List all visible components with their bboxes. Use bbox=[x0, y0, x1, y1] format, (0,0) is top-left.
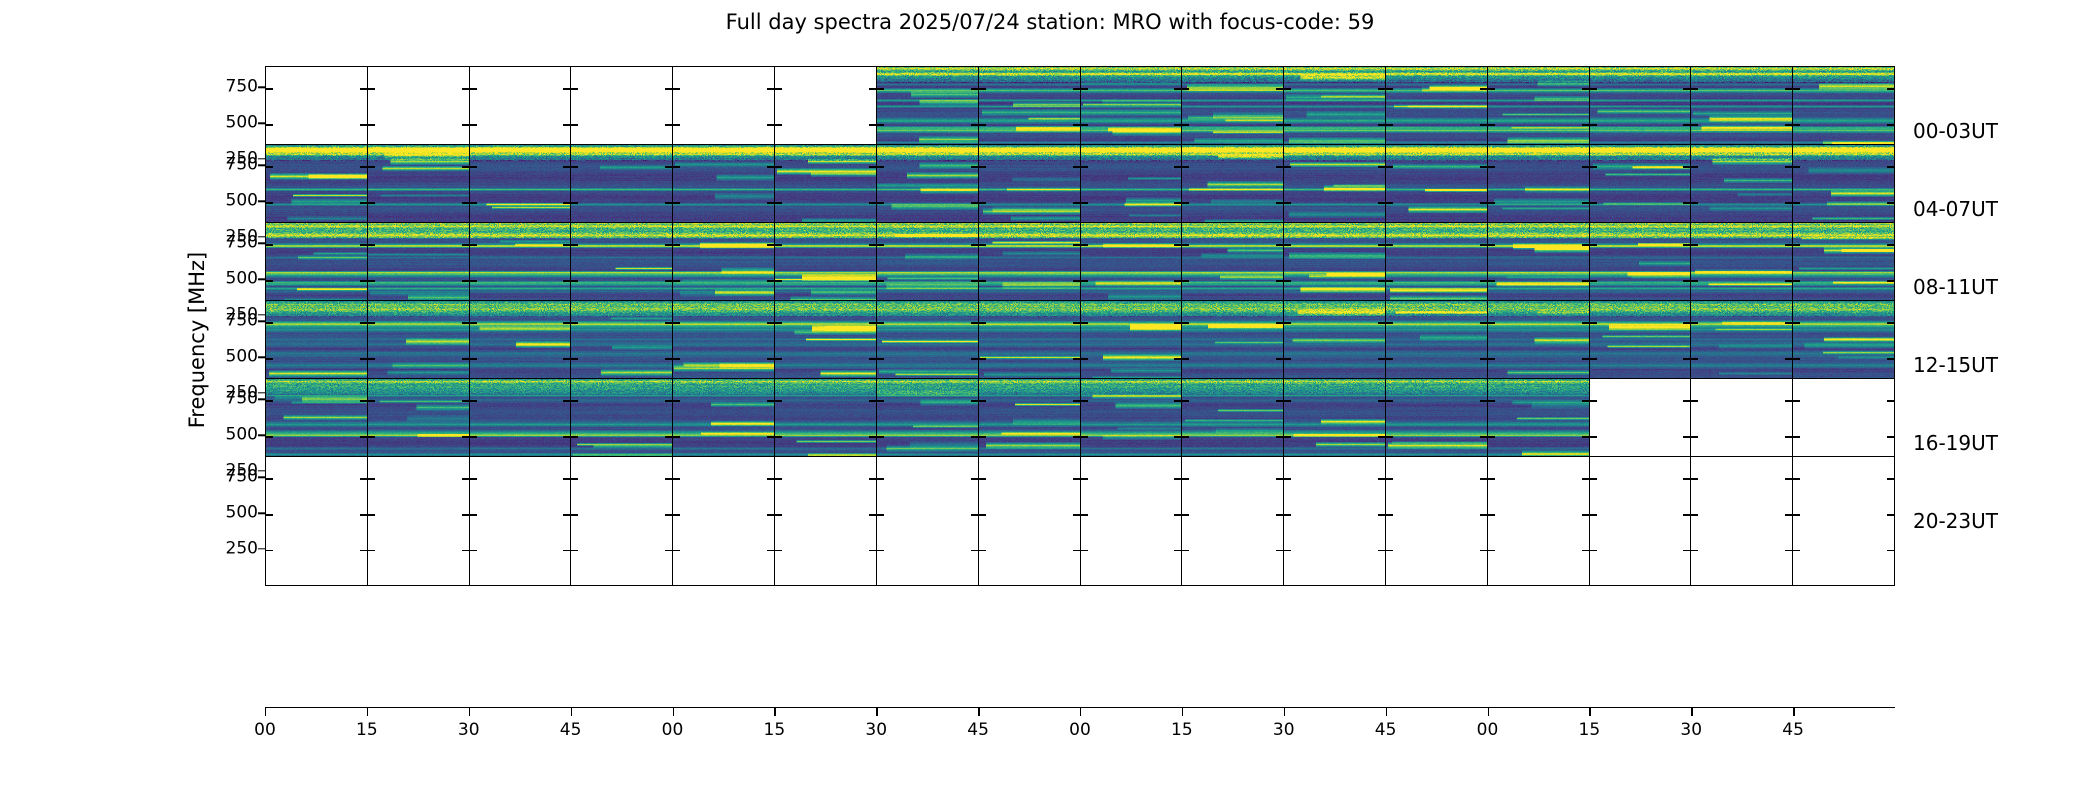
y-tick-mark bbox=[767, 166, 774, 167]
y-tick-mark bbox=[1378, 202, 1385, 203]
y-tick-mark bbox=[1691, 436, 1698, 437]
spectrogram-panel[interactable] bbox=[265, 456, 367, 586]
x-tick-label: 45 bbox=[560, 720, 582, 740]
y-tick-mark bbox=[1793, 550, 1800, 551]
y-tick-mark bbox=[1590, 514, 1597, 515]
spectrogram-panel[interactable] bbox=[978, 456, 1080, 586]
y-tick-mark bbox=[1582, 514, 1589, 515]
y-tick-mark bbox=[1276, 550, 1283, 551]
y-tick-mark bbox=[665, 478, 672, 479]
y-tick-mark bbox=[767, 400, 774, 401]
y-tick-mark bbox=[1276, 88, 1283, 89]
y-tick-mark bbox=[869, 358, 876, 359]
y-tick-mark bbox=[1480, 436, 1487, 437]
x-axis: 00153045001530450015304500153045 bbox=[265, 708, 1895, 748]
y-tick-mark bbox=[360, 400, 367, 401]
y-tick-mark bbox=[1081, 244, 1088, 245]
y-axis-ticks bbox=[258, 456, 266, 586]
y-tick-mark bbox=[971, 478, 978, 479]
y-tick-mark bbox=[470, 322, 477, 323]
y-tick-mark bbox=[673, 358, 680, 359]
y-tick-mark bbox=[877, 358, 884, 359]
y-tick-mark bbox=[360, 322, 367, 323]
y-tick-mark bbox=[1174, 124, 1181, 125]
y-tick-mark bbox=[869, 514, 876, 515]
x-tick-mark bbox=[1691, 708, 1692, 716]
y-tick-mark bbox=[767, 436, 774, 437]
y-tick-mark bbox=[665, 124, 672, 125]
y-tick-mark bbox=[665, 280, 672, 281]
y-tick-mark bbox=[767, 124, 774, 125]
y-tick-mark bbox=[1276, 322, 1283, 323]
y-tick-mark bbox=[258, 122, 265, 123]
y-tick-mark bbox=[1887, 166, 1894, 167]
x-tick-mark bbox=[1589, 708, 1590, 716]
y-tick-mark bbox=[1284, 436, 1291, 437]
y-tick-mark bbox=[368, 514, 375, 515]
y-tick-mark bbox=[1488, 550, 1495, 551]
y-tick-mark bbox=[1488, 400, 1495, 401]
y-tick-mark bbox=[1174, 202, 1181, 203]
y-tick-mark bbox=[470, 358, 477, 359]
y-tick-mark bbox=[767, 202, 774, 203]
y-tick-mark bbox=[1073, 124, 1080, 125]
y-tick-mark bbox=[665, 166, 672, 167]
y-tick-mark bbox=[877, 478, 884, 479]
y-tick-mark bbox=[1276, 478, 1283, 479]
y-tick-mark bbox=[1276, 358, 1283, 359]
y-tick-mark bbox=[1683, 322, 1690, 323]
y-tick-mark bbox=[1785, 550, 1792, 551]
y-tick-mark bbox=[258, 278, 265, 279]
y-tick-mark bbox=[1386, 436, 1393, 437]
y-tick-mark bbox=[571, 400, 578, 401]
x-tick-mark bbox=[367, 708, 368, 716]
y-tick-mark bbox=[1793, 202, 1800, 203]
y-tick-mark bbox=[775, 550, 782, 551]
y-tick-mark bbox=[1174, 550, 1181, 551]
x-axis-spine bbox=[265, 707, 1895, 708]
y-tick-mark bbox=[673, 514, 680, 515]
y-tick-mark bbox=[1793, 400, 1800, 401]
y-tick-mark bbox=[1887, 478, 1894, 479]
y-tick-mark bbox=[1378, 436, 1385, 437]
y-tick-mark bbox=[1582, 88, 1589, 89]
y-tick-mark bbox=[1386, 358, 1393, 359]
spectrogram-panel[interactable] bbox=[1792, 456, 1895, 586]
y-tick-mark bbox=[1378, 166, 1385, 167]
y-tick-mark bbox=[971, 244, 978, 245]
y-tick-mark bbox=[1785, 202, 1792, 203]
y-tick-mark bbox=[1480, 124, 1487, 125]
y-tick-mark bbox=[1488, 358, 1495, 359]
y-tick-mark bbox=[1590, 166, 1597, 167]
y-tick-mark bbox=[1081, 550, 1088, 551]
y-tick-mark bbox=[1480, 244, 1487, 245]
y-tick-mark bbox=[767, 478, 774, 479]
y-tick-label: 750 bbox=[196, 391, 258, 408]
y-tick-mark bbox=[571, 88, 578, 89]
y-tick-labels: 750500250 bbox=[196, 456, 258, 586]
y-tick-mark bbox=[775, 280, 782, 281]
y-tick-mark bbox=[1284, 202, 1291, 203]
y-tick-mark bbox=[1174, 478, 1181, 479]
spectrogram-panel[interactable] bbox=[1690, 456, 1792, 586]
x-tick-label: 00 bbox=[254, 720, 276, 740]
y-tick-mark bbox=[869, 400, 876, 401]
y-tick-mark bbox=[1386, 400, 1393, 401]
row-label-00-03ut: 00-03UT bbox=[1913, 119, 1998, 143]
y-tick-mark bbox=[571, 202, 578, 203]
y-tick-mark bbox=[1182, 514, 1189, 515]
x-tick-mark bbox=[673, 708, 674, 716]
spectrogram-panel[interactable] bbox=[367, 456, 469, 586]
y-tick-mark bbox=[877, 124, 884, 125]
y-tick-mark bbox=[360, 514, 367, 515]
y-tick-mark bbox=[1785, 88, 1792, 89]
y-tick-mark bbox=[1073, 478, 1080, 479]
y-tick-mark bbox=[665, 358, 672, 359]
spectrogram-panel[interactable] bbox=[1385, 456, 1487, 586]
y-tick-mark bbox=[877, 400, 884, 401]
y-tick-mark bbox=[869, 436, 876, 437]
y-tick-mark bbox=[1174, 280, 1181, 281]
spectrogram-panel[interactable] bbox=[469, 456, 571, 586]
y-tick-mark bbox=[1276, 280, 1283, 281]
spectrogram-panel[interactable] bbox=[1283, 456, 1385, 586]
y-tick-mark bbox=[1683, 244, 1690, 245]
y-tick-mark bbox=[462, 358, 469, 359]
y-tick-mark bbox=[1785, 478, 1792, 479]
y-tick-mark bbox=[1793, 358, 1800, 359]
y-tick-mark bbox=[1480, 478, 1487, 479]
y-tick-mark bbox=[571, 358, 578, 359]
y-tick-mark bbox=[258, 243, 265, 244]
y-tick-mark bbox=[1785, 244, 1792, 245]
y-tick-mark bbox=[1182, 400, 1189, 401]
y-tick-mark bbox=[462, 400, 469, 401]
y-tick-mark bbox=[1284, 514, 1291, 515]
y-tick-mark bbox=[1590, 550, 1597, 551]
y-tick-mark bbox=[971, 514, 978, 515]
y-tick-mark bbox=[470, 124, 477, 125]
y-tick-mark bbox=[258, 87, 265, 88]
spectrogram-panel[interactable] bbox=[1487, 456, 1589, 586]
y-tick-mark bbox=[1785, 514, 1792, 515]
y-tick-mark bbox=[1793, 514, 1800, 515]
y-tick-mark bbox=[563, 124, 570, 125]
y-tick-mark bbox=[1386, 280, 1393, 281]
y-tick-mark bbox=[571, 244, 578, 245]
y-tick-mark bbox=[1386, 478, 1393, 479]
y-tick-mark bbox=[1785, 400, 1792, 401]
y-tick-mark bbox=[1590, 478, 1597, 479]
y-tick-mark bbox=[1073, 202, 1080, 203]
y-tick-mark bbox=[563, 436, 570, 437]
y-tick-mark bbox=[1081, 514, 1088, 515]
y-tick-mark bbox=[1683, 88, 1690, 89]
y-tick-mark bbox=[1386, 88, 1393, 89]
y-tick-mark bbox=[1182, 202, 1189, 203]
y-tick-mark bbox=[462, 166, 469, 167]
x-tick-mark bbox=[265, 708, 266, 716]
y-tick-mark bbox=[767, 244, 774, 245]
y-tick-mark bbox=[1691, 166, 1698, 167]
y-tick-mark bbox=[571, 550, 578, 551]
y-tick-mark bbox=[767, 514, 774, 515]
y-tick-mark bbox=[462, 550, 469, 551]
y-tick-mark bbox=[665, 244, 672, 245]
x-tick-mark bbox=[978, 708, 979, 716]
y-tick-mark bbox=[767, 322, 774, 323]
y-tick-mark bbox=[462, 280, 469, 281]
y-tick-mark bbox=[1887, 514, 1894, 515]
x-tick-mark bbox=[469, 708, 470, 716]
y-tick-mark bbox=[1081, 400, 1088, 401]
y-tick-label: 500 bbox=[196, 427, 258, 444]
y-tick-mark bbox=[1284, 166, 1291, 167]
y-tick-mark bbox=[1683, 514, 1690, 515]
x-tick-mark bbox=[1793, 708, 1794, 716]
y-tick-mark bbox=[1284, 124, 1291, 125]
y-tick-mark bbox=[1785, 322, 1792, 323]
y-tick-mark bbox=[1182, 124, 1189, 125]
y-tick-label: 750 bbox=[196, 79, 258, 96]
y-tick-mark bbox=[266, 322, 273, 323]
y-tick-mark bbox=[266, 244, 273, 245]
y-tick-mark bbox=[1691, 550, 1698, 551]
y-tick-mark bbox=[1073, 280, 1080, 281]
y-tick-mark bbox=[971, 358, 978, 359]
y-tick-label: 500 bbox=[196, 505, 258, 522]
y-tick-mark bbox=[1073, 436, 1080, 437]
y-tick-mark bbox=[1785, 436, 1792, 437]
y-tick-mark bbox=[1590, 322, 1597, 323]
y-tick-mark bbox=[563, 400, 570, 401]
y-tick-mark bbox=[665, 400, 672, 401]
y-tick-mark bbox=[360, 436, 367, 437]
y-tick-mark bbox=[1378, 514, 1385, 515]
page-title: Full day spectra 2025/07/24 station: MRO… bbox=[0, 10, 2100, 34]
y-tick-mark bbox=[1182, 436, 1189, 437]
y-tick-mark bbox=[1174, 400, 1181, 401]
y-tick-mark bbox=[1284, 244, 1291, 245]
y-tick-mark bbox=[1174, 322, 1181, 323]
y-tick-mark bbox=[1793, 322, 1800, 323]
y-tick-mark bbox=[1793, 244, 1800, 245]
y-tick-mark bbox=[1480, 358, 1487, 359]
y-tick-mark bbox=[1182, 166, 1189, 167]
y-tick-mark bbox=[971, 436, 978, 437]
y-tick-mark bbox=[1683, 436, 1690, 437]
y-tick-mark bbox=[571, 322, 578, 323]
y-tick-mark bbox=[775, 244, 782, 245]
y-tick-mark bbox=[1174, 88, 1181, 89]
y-tick-mark bbox=[1785, 358, 1792, 359]
y-tick-mark bbox=[1793, 436, 1800, 437]
y-tick-mark bbox=[258, 477, 265, 478]
y-tick-mark bbox=[1683, 358, 1690, 359]
x-tick-label: 00 bbox=[662, 720, 684, 740]
y-tick-mark bbox=[1081, 358, 1088, 359]
y-tick-mark bbox=[673, 322, 680, 323]
y-tick-mark bbox=[1785, 166, 1792, 167]
y-tick-mark bbox=[767, 358, 774, 359]
y-tick-mark bbox=[1488, 88, 1495, 89]
y-tick-mark bbox=[673, 550, 680, 551]
spectrogram-panel[interactable] bbox=[774, 456, 876, 586]
y-tick-mark bbox=[1182, 358, 1189, 359]
y-tick-mark bbox=[258, 548, 265, 549]
x-tick-label: 15 bbox=[1171, 720, 1193, 740]
y-tick-mark bbox=[563, 244, 570, 245]
y-tick-mark bbox=[266, 478, 273, 479]
y-tick-mark bbox=[360, 550, 367, 551]
y-tick-mark bbox=[767, 88, 774, 89]
y-tick-mark bbox=[1691, 124, 1698, 125]
y-tick-label: 750 bbox=[196, 313, 258, 330]
y-tick-mark bbox=[1683, 124, 1690, 125]
y-tick-mark bbox=[979, 202, 986, 203]
y-tick-mark bbox=[673, 166, 680, 167]
y-tick-mark bbox=[1691, 280, 1698, 281]
y-tick-mark bbox=[360, 166, 367, 167]
y-tick-mark bbox=[971, 280, 978, 281]
y-tick-mark bbox=[563, 550, 570, 551]
y-tick-mark bbox=[1378, 322, 1385, 323]
y-tick-mark bbox=[1073, 88, 1080, 89]
y-tick-mark bbox=[1378, 244, 1385, 245]
y-tick-mark bbox=[1276, 400, 1283, 401]
y-tick-mark bbox=[775, 124, 782, 125]
y-tick-mark bbox=[1480, 202, 1487, 203]
y-tick-mark bbox=[877, 280, 884, 281]
y-tick-mark bbox=[571, 124, 578, 125]
y-tick-mark bbox=[462, 124, 469, 125]
y-tick-mark bbox=[775, 436, 782, 437]
x-tick-label: 00 bbox=[1477, 720, 1499, 740]
y-tick-mark bbox=[1785, 124, 1792, 125]
y-tick-mark bbox=[1284, 478, 1291, 479]
y-tick-mark bbox=[979, 280, 986, 281]
y-tick-mark bbox=[971, 88, 978, 89]
y-tick-mark bbox=[869, 478, 876, 479]
y-tick-mark bbox=[767, 280, 774, 281]
y-tick-mark bbox=[368, 400, 375, 401]
y-tick-mark bbox=[1691, 88, 1698, 89]
y-tick-mark bbox=[470, 166, 477, 167]
y-tick-mark bbox=[1174, 436, 1181, 437]
spectrogram-panel[interactable] bbox=[1181, 456, 1283, 586]
y-tick-mark bbox=[775, 400, 782, 401]
y-tick-mark bbox=[1488, 244, 1495, 245]
spectrogram-panel[interactable] bbox=[570, 456, 672, 586]
y-tick-mark bbox=[1887, 124, 1894, 125]
y-tick-mark bbox=[775, 88, 782, 89]
y-tick-mark bbox=[1683, 478, 1690, 479]
y-tick-mark bbox=[979, 400, 986, 401]
y-tick-mark bbox=[1590, 244, 1597, 245]
y-tick-mark bbox=[869, 88, 876, 89]
y-tick-mark bbox=[1284, 550, 1291, 551]
y-tick-mark bbox=[1284, 322, 1291, 323]
row-label-08-11ut: 08-11UT bbox=[1913, 275, 1998, 299]
y-tick-mark bbox=[1793, 280, 1800, 281]
x-tick-label: 15 bbox=[356, 720, 378, 740]
y-tick-mark bbox=[673, 88, 680, 89]
y-tick-mark bbox=[1691, 478, 1698, 479]
y-tick-mark bbox=[971, 550, 978, 551]
spectrogram-panel[interactable] bbox=[1589, 456, 1691, 586]
y-tick-mark bbox=[1276, 514, 1283, 515]
y-tick-mark bbox=[462, 322, 469, 323]
y-tick-mark bbox=[470, 202, 477, 203]
y-tick-mark bbox=[571, 514, 578, 515]
y-tick-mark bbox=[1887, 322, 1894, 323]
y-tick-mark bbox=[470, 244, 477, 245]
y-tick-mark bbox=[563, 88, 570, 89]
y-tick-mark bbox=[258, 165, 265, 166]
y-tick-mark bbox=[775, 514, 782, 515]
y-tick-mark bbox=[1582, 202, 1589, 203]
y-tick-mark bbox=[470, 436, 477, 437]
row-label-04-07ut: 04-07UT bbox=[1913, 197, 1998, 221]
y-tick-mark bbox=[869, 202, 876, 203]
y-tick-mark bbox=[368, 436, 375, 437]
y-tick-mark bbox=[1582, 244, 1589, 245]
y-tick-mark bbox=[563, 322, 570, 323]
y-tick-mark bbox=[1284, 358, 1291, 359]
y-tick-mark bbox=[869, 280, 876, 281]
y-tick-mark bbox=[775, 202, 782, 203]
y-tick-mark bbox=[266, 88, 273, 89]
y-tick-mark bbox=[1081, 280, 1088, 281]
y-tick-mark bbox=[1590, 400, 1597, 401]
y-tick-mark bbox=[1887, 202, 1894, 203]
y-tick-mark bbox=[979, 322, 986, 323]
y-tick-mark bbox=[1276, 202, 1283, 203]
spectrogram-panel[interactable] bbox=[672, 456, 774, 586]
y-tick-mark bbox=[1386, 550, 1393, 551]
x-tick-label: 30 bbox=[865, 720, 887, 740]
y-tick-mark bbox=[1488, 166, 1495, 167]
y-tick-mark bbox=[1590, 436, 1597, 437]
y-tick-mark bbox=[1691, 244, 1698, 245]
y-tick-mark bbox=[1386, 514, 1393, 515]
y-tick-mark bbox=[869, 244, 876, 245]
y-tick-mark bbox=[1182, 88, 1189, 89]
y-tick-mark bbox=[1073, 358, 1080, 359]
y-tick-mark bbox=[665, 202, 672, 203]
y-tick-mark bbox=[869, 166, 876, 167]
spectrogram-panel[interactable] bbox=[876, 456, 978, 586]
y-tick-mark bbox=[673, 280, 680, 281]
y-tick-mark bbox=[1276, 124, 1283, 125]
y-tick-mark bbox=[368, 322, 375, 323]
spectrogram-panel[interactable] bbox=[1080, 456, 1182, 586]
y-tick-mark bbox=[266, 124, 273, 125]
y-tick-mark bbox=[1378, 478, 1385, 479]
y-tick-mark bbox=[1793, 166, 1800, 167]
y-tick-mark bbox=[665, 88, 672, 89]
y-tick-mark bbox=[979, 358, 986, 359]
y-tick-mark bbox=[877, 166, 884, 167]
y-tick-mark bbox=[1683, 550, 1690, 551]
y-tick-mark bbox=[1691, 358, 1698, 359]
y-tick-mark bbox=[1386, 322, 1393, 323]
y-tick-mark bbox=[1081, 166, 1088, 167]
x-tick-label: 30 bbox=[1273, 720, 1295, 740]
